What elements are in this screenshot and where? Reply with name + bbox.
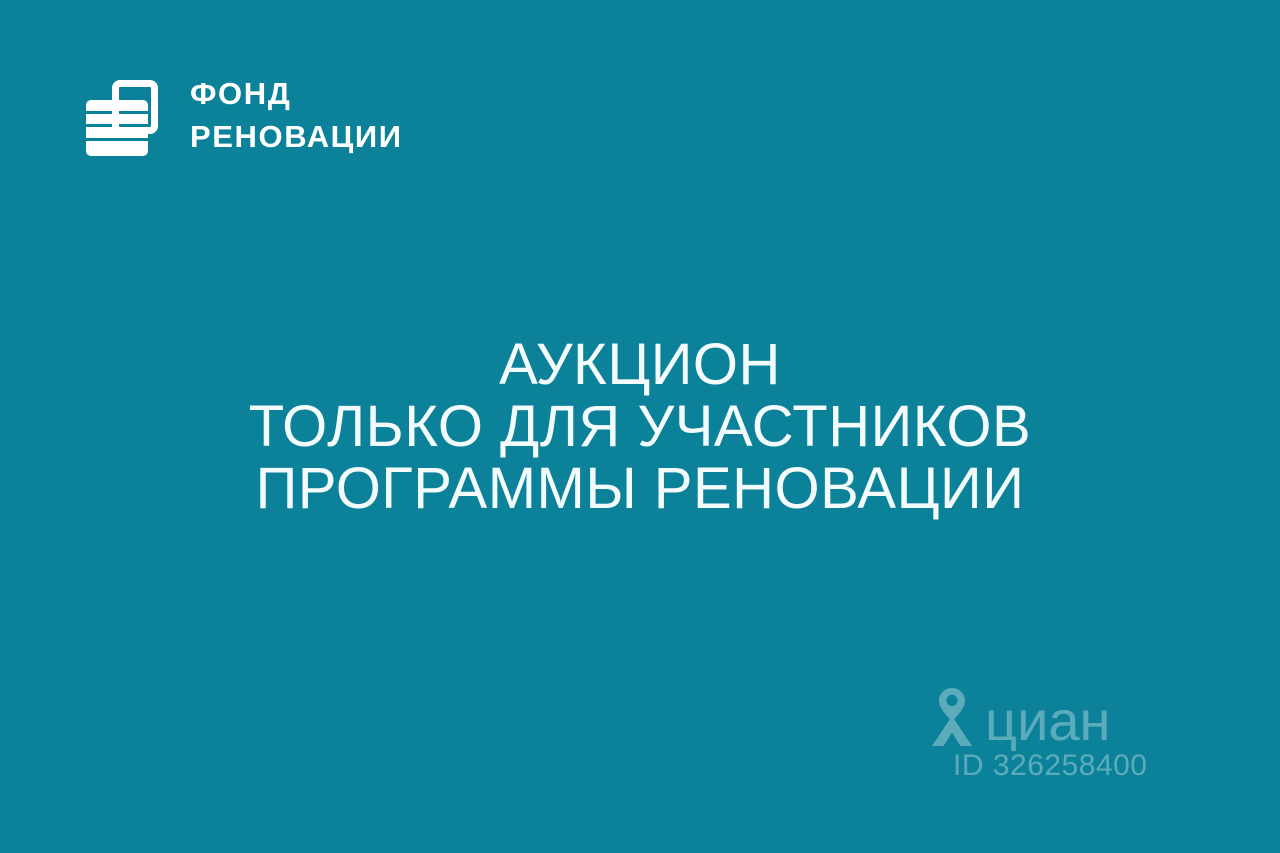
brand-name-line-2: РЕНОВАЦИИ (190, 121, 403, 152)
headline-block: АУКЦИОН ТОЛЬКО ДЛЯ УЧАСТНИКОВ ПРОГРАММЫ … (0, 334, 1280, 520)
fond-renovacii-logo: ФОНД РЕНОВАЦИИ (84, 72, 403, 158)
brand-name-line-1: ФОНД (190, 78, 403, 109)
cian-watermark: циан ID 326258400 (925, 686, 1165, 786)
stack-bar-3 (86, 127, 148, 138)
cian-logo-row: циан (925, 686, 1110, 748)
headline-line-2: ТОЛЬКО ДЛЯ УЧАСТНИКОВ (0, 396, 1280, 458)
cian-wordmark: циан (985, 694, 1110, 748)
stack-bar-1 (86, 100, 148, 111)
document-stack-shape (86, 100, 148, 156)
auction-banner: ФОНД РЕНОВАЦИИ АУКЦИОН ТОЛЬКО ДЛЯ УЧАСТН… (0, 0, 1280, 853)
headline-line-1: АУКЦИОН (0, 334, 1280, 396)
listing-id-label: ID 326258400 (953, 749, 1148, 783)
stack-bar-2 (86, 114, 148, 124)
document-stack-icon (84, 72, 168, 158)
stack-bar-4 (86, 141, 148, 156)
cian-pin-roof-icon (925, 686, 979, 748)
headline-line-3: ПРОГРАММЫ РЕНОВАЦИИ (0, 458, 1280, 520)
brand-wordmark: ФОНД РЕНОВАЦИИ (190, 78, 403, 152)
